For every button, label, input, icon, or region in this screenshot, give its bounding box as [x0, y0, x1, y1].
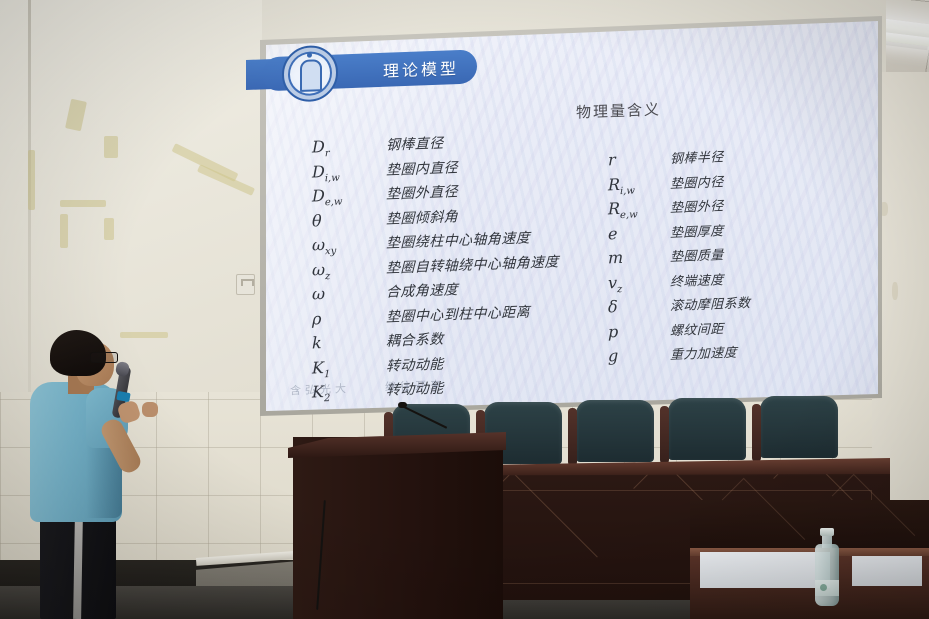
symbol-description: 终端速度 [670, 269, 724, 290]
symbol-subscript: 1 [324, 369, 330, 380]
symbol-description: 垫圈自转轴绕中心轴角速度 [386, 251, 559, 277]
symbol-description: 滚动摩阻系数 [670, 292, 750, 314]
symbol-glyph: δ [608, 295, 670, 316]
symbol-description: 螺纹间距 [670, 318, 724, 339]
symbol-row: m垫圈质量 [608, 243, 750, 269]
wall-stain [892, 282, 898, 300]
chair-arm [568, 408, 577, 466]
symbol-description: 耦合系数 [386, 329, 444, 351]
symbol-glyph: Dr [312, 135, 386, 160]
tape-residue [28, 150, 35, 210]
symbol-description: 垫圈质量 [670, 244, 724, 265]
footer-right-text: 继往开来 [385, 379, 445, 394]
bottle-cap [820, 528, 834, 536]
symbol-subscript: i,w [325, 172, 340, 184]
seal-dot [307, 53, 312, 58]
symbol-glyph: vz [608, 271, 670, 296]
symbol-subscript: e,w [325, 197, 343, 209]
symbol-description: 钢棒半径 [670, 146, 724, 167]
symbol-subscript: z [617, 284, 622, 295]
paper-sheet [700, 552, 830, 588]
slide-title: 理论模型 [383, 55, 459, 82]
symbol-description: 合成角速度 [386, 279, 458, 302]
symbol-subscript: r [325, 148, 330, 159]
symbol-subscript: e,w [620, 209, 638, 221]
presenter [24, 330, 164, 619]
symbol-glyph: K1 [312, 355, 386, 380]
symbol-glyph: k [312, 331, 386, 353]
footer-gap [358, 391, 378, 392]
symbol-glyph: Ri,w [608, 173, 670, 198]
symbol-description: 垫圈倾斜角 [386, 206, 458, 229]
symbol-glyph: De,w [312, 184, 386, 209]
symbol-row: p螺纹间距 [608, 317, 750, 343]
symbol-list-right: r钢棒半径Ri,w垫圈内径Re,w垫圈外径e垫圈厚度m垫圈质量vz终端速度δ滚动… [608, 145, 750, 371]
bottle-neck [822, 534, 832, 548]
symbol-glyph: g [608, 344, 670, 365]
symbol-glyph: ω [312, 282, 386, 304]
symbol-glyph: θ [312, 208, 386, 230]
symbol-glyph: e [608, 222, 670, 243]
symbol-row: Re,w垫圈外径 [608, 194, 750, 220]
symbol-glyph: ωz [312, 257, 386, 282]
tape-residue [104, 136, 118, 158]
symbol-row: e垫圈厚度 [608, 219, 750, 245]
symbol-subscript: z [325, 271, 330, 282]
symbol-subscript: i,w [620, 185, 635, 197]
tape-residue [60, 200, 106, 207]
symbol-glyph: ρ [312, 306, 386, 328]
symbol-row: δ滚动摩阻系数 [608, 292, 750, 318]
lecture-hall-scene: 理论模型 物理量含义 Dr钢棒直径Di,w垫圈内直径De,w垫圈外直径θ垫圈倾斜… [0, 0, 929, 619]
chair [668, 398, 746, 460]
symbol-list-left: Dr钢棒直径Di,w垫圈内直径De,w垫圈外直径θ垫圈倾斜角ωxy垫圈绕柱中心轴… [312, 128, 559, 407]
footer-left-text: 含弘光大 [290, 382, 350, 397]
symbol-glyph: Di,w [312, 159, 386, 184]
lectern [293, 437, 503, 619]
right-column-header: 物理量含义 [576, 98, 661, 122]
chair [576, 400, 654, 462]
bottle-label [815, 580, 839, 596]
symbol-description: 钢棒直径 [386, 133, 444, 155]
symbol-description: 垫圈外径 [670, 195, 724, 216]
symbol-subscript: xy [325, 246, 336, 257]
chair-arm [752, 404, 761, 462]
presenter-hand-pointing [142, 402, 158, 417]
symbol-description: 垫圈厚度 [670, 220, 724, 241]
bottle-body [815, 544, 839, 606]
tape-residue [65, 99, 87, 132]
tape-residue [104, 218, 114, 240]
symbol-description: 垫圈中心到柱中心距离 [386, 301, 530, 326]
symbol-row: vz终端速度 [608, 268, 750, 294]
symbol-description: 垫圈外直径 [386, 181, 458, 204]
symbol-row: g重力加速度 [608, 341, 750, 367]
symbol-glyph: ωxy [312, 233, 386, 258]
symbol-description: 重力加速度 [670, 342, 737, 364]
symbol-description: 垫圈绕柱中心轴角速度 [386, 227, 530, 252]
symbol-description: 垫圈内径 [670, 171, 724, 192]
symbol-row: Ri,w垫圈内径 [608, 170, 750, 196]
chair [760, 396, 838, 458]
symbol-description: 垫圈内直径 [386, 157, 458, 180]
symbol-glyph: r [608, 148, 670, 169]
university-seal-logo [282, 45, 338, 103]
water-bottle [815, 528, 839, 606]
paper-sheet [852, 556, 922, 586]
tape-residue [60, 214, 68, 248]
symbol-glyph: p [608, 320, 670, 341]
symbol-glyph: m [608, 246, 670, 267]
slide-content: 理论模型 物理量含义 Dr钢棒直径Di,w垫圈内直径De,w垫圈外直径θ垫圈倾斜… [246, 0, 886, 416]
chair-arm [660, 406, 669, 464]
gooseneck-microphone-head [398, 402, 407, 408]
symbol-description: 转动动能 [386, 353, 444, 375]
symbol-row: r钢棒半径 [608, 145, 750, 171]
symbol-glyph: Re,w [608, 197, 670, 222]
glasses-icon [90, 352, 118, 363]
